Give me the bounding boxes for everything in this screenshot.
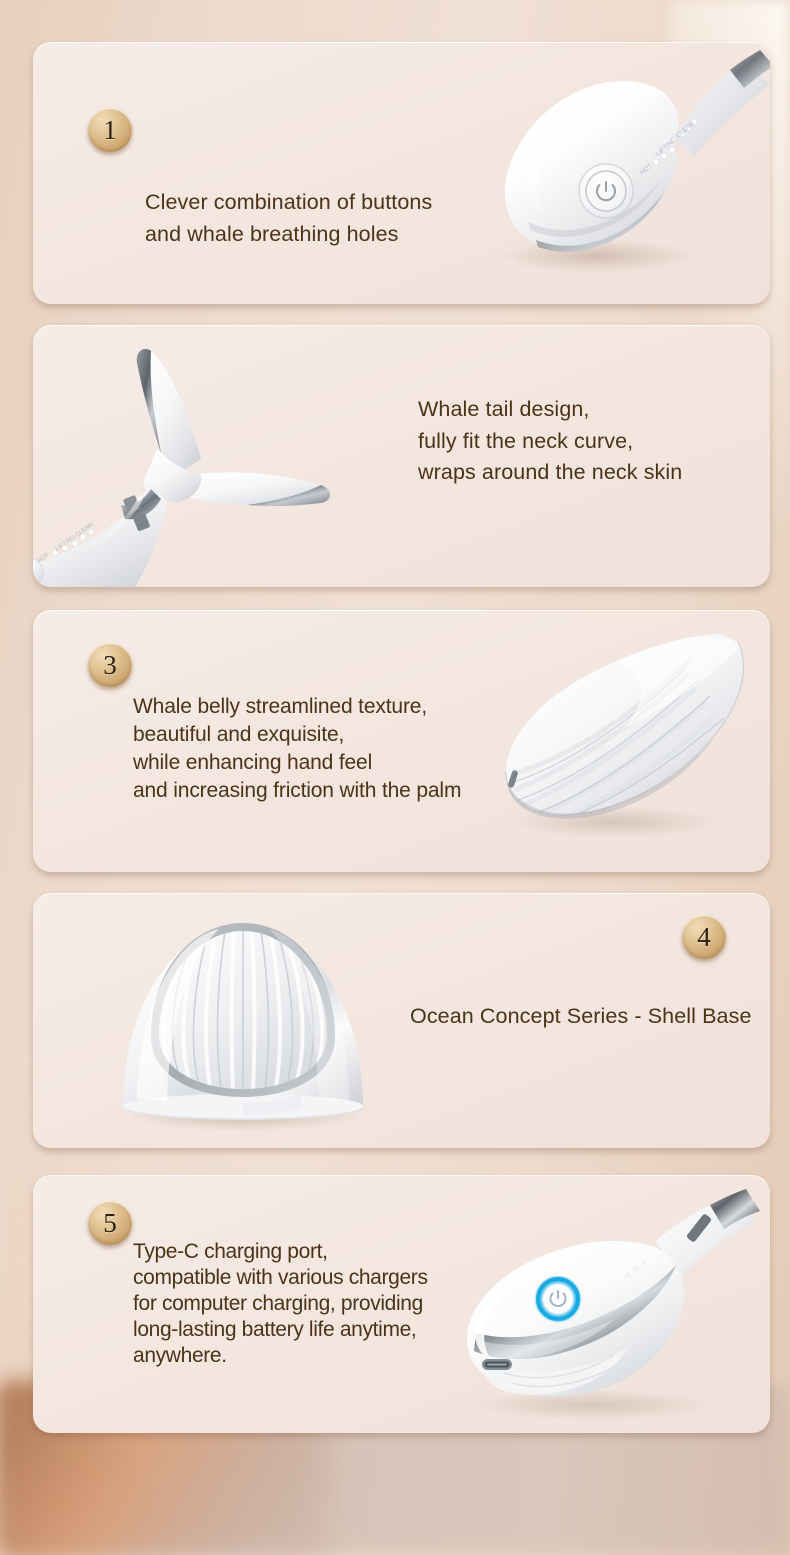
feature-card-2[interactable]: HOT LIFTING CLEAN 2 Whale tail design, f… [33, 325, 770, 587]
card-2-description: Whale tail design, fully fit the neck cu… [418, 394, 682, 489]
feature-card-2-inner: HOT LIFTING CLEAN 2 Whale tail design, f… [33, 325, 770, 587]
feature-card-4[interactable]: 4 Ocean Concept Series - Shell Base [33, 893, 770, 1148]
feature-card-4-inner: 4 Ocean Concept Series - Shell Base [33, 893, 770, 1148]
card-5-number-badge: 5 [88, 1201, 132, 1245]
card-5-description: Type-C charging port, compatible with va… [133, 1239, 428, 1369]
type-c-port [482, 1359, 512, 1370]
feature-card-1[interactable]: HOT LIFTING CLEAN 1 Clever combination o… [33, 42, 770, 304]
card-1-description: Clever combination of buttons and whale … [145, 187, 432, 250]
whale-belly-ribbed-texture-image [474, 622, 766, 862]
feature-card-list: HOT LIFTING CLEAN 1 Clever combination o… [0, 0, 790, 1555]
card-4-number-badge: 4 [682, 915, 726, 959]
shell-charging-base-image [93, 903, 393, 1143]
whale-head-device-with-power-button-image: HOT LIFTING CLEAN [478, 44, 770, 302]
feature-card-5[interactable]: 5 Type-C charging port, compatible with … [33, 1175, 770, 1433]
whale-tail-treatment-head-image: HOT LIFTING CLEAN [33, 329, 365, 587]
card-1-number-badge: 1 [88, 108, 132, 152]
feature-card-3-inner: 3 Whale belly streamlined texture, beaut… [33, 610, 770, 872]
device-with-typec-port-and-blue-led-image [442, 1183, 770, 1433]
card-4-description: Ocean Concept Series - Shell Base [410, 1001, 752, 1033]
card-3-number-badge: 3 [88, 643, 132, 687]
feature-card-5-inner: 5 Type-C charging port, compatible with … [33, 1175, 770, 1433]
card-3-description: Whale belly streamlined texture, beautif… [133, 693, 461, 805]
feature-card-1-inner: HOT LIFTING CLEAN 1 Clever combination o… [33, 42, 770, 304]
feature-card-3[interactable]: 3 Whale belly streamlined texture, beaut… [33, 610, 770, 872]
